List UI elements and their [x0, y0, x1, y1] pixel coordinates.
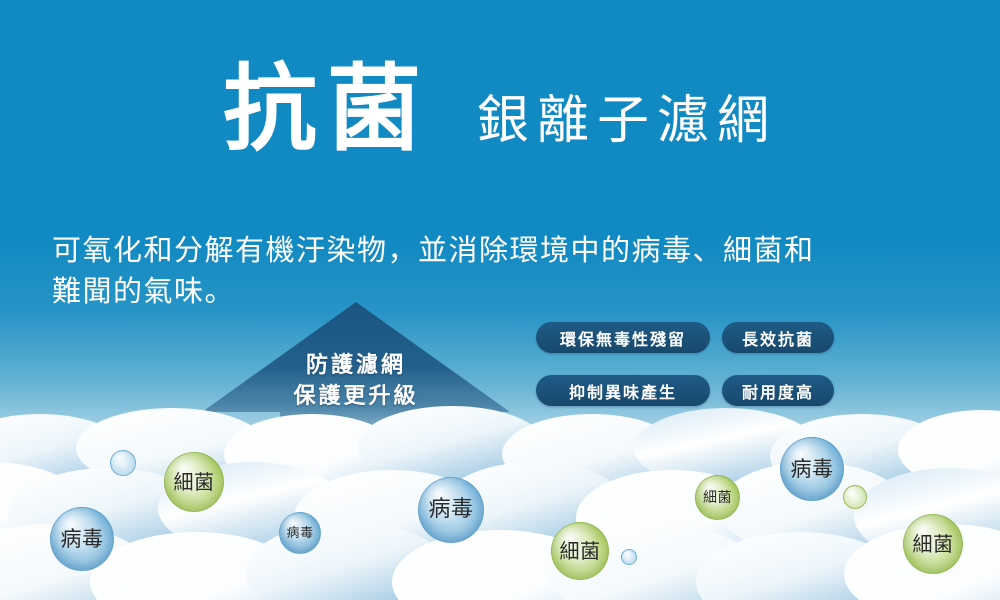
decor-bubble-3 — [843, 485, 867, 509]
feature-pill-eco-nontoxic[interactable]: 環保無毒性殘留 — [536, 322, 710, 353]
germ-bubble-virus-3: 病毒 — [418, 477, 484, 543]
germ-bubble-bacteria-3: 細菌 — [695, 475, 740, 520]
feature-pill-durability[interactable]: 耐用度高 — [722, 375, 834, 406]
description-line-1: 可氧化和分解有機汙染物，並消除環境中的病毒、細菌和 — [52, 230, 962, 271]
feature-pill-group: 環保無毒性殘留 長效抗菌 抑制異味產生 耐用度高 — [536, 322, 834, 406]
poster-canvas: 抗菌 銀離子濾網 可氧化和分解有機汙染物，並消除環境中的病毒、細菌和 難聞的氣味… — [0, 0, 1000, 600]
decor-bubble-1 — [110, 450, 136, 476]
germ-bubble-bacteria-2: 細菌 — [551, 522, 609, 580]
headline-block: 抗菌 銀離子濾網 — [0, 62, 1000, 158]
decor-bubble-2 — [621, 549, 637, 565]
arrow-caption-line-1: 防護濾網 — [196, 350, 516, 381]
germ-bubble-bacteria-4: 細菌 — [903, 514, 963, 574]
germ-bubble-bacteria-1: 細菌 — [164, 452, 224, 512]
feature-pill-long-lasting[interactable]: 長效抗菌 — [722, 322, 834, 353]
germ-bubble-virus-1: 病毒 — [50, 507, 114, 571]
germ-bubble-virus-4: 病毒 — [780, 437, 844, 501]
feature-pill-odor-control[interactable]: 抑制異味產生 — [536, 375, 710, 406]
germ-bubble-virus-2: 病毒 — [279, 512, 321, 554]
page-subtitle: 銀離子濾網 — [477, 94, 777, 158]
page-title: 抗菌 — [223, 62, 431, 158]
